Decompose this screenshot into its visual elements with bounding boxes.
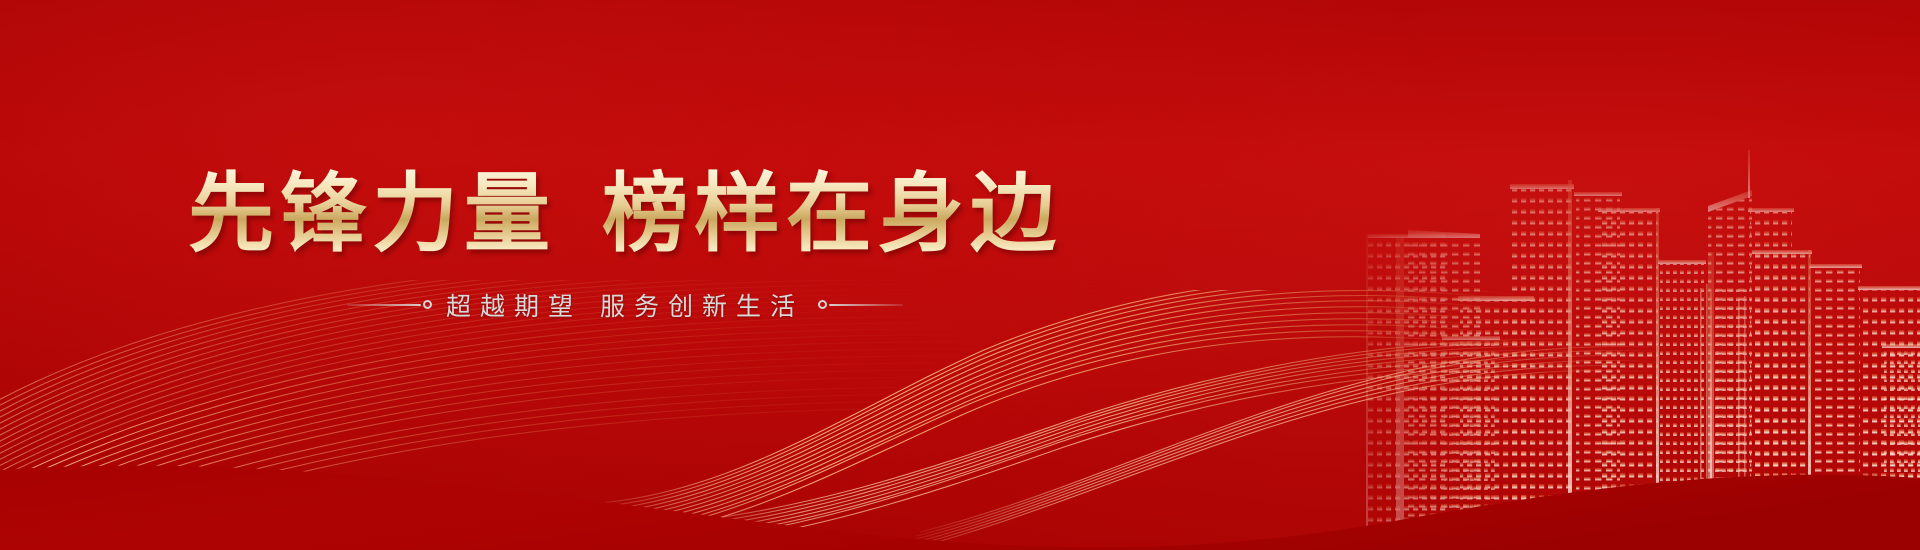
subtitle-part-2: 服务创新生活: [600, 292, 804, 321]
foreground-wave-shape: [0, 466, 1920, 550]
page-title: 先锋力量榜样在身边: [0, 168, 1250, 261]
banner-root: 先锋力量榜样在身边 超越期望服务创新生活: [0, 0, 1920, 550]
subtitle-decor-right: [816, 300, 903, 309]
subtitle-decor-left: [347, 300, 434, 309]
headline-part-2: 榜样在身边: [602, 164, 1062, 264]
subtitle-part-1: 超越期望: [446, 292, 582, 321]
headline-block: 先锋力量榜样在身边 超越期望服务创新生活: [0, 168, 1250, 323]
rule-left-icon: [347, 304, 421, 306]
page-subtitle: 超越期望服务创新生活: [446, 287, 804, 323]
headline-part-1: 先锋力量: [188, 164, 556, 264]
circle-outline-left-icon: [423, 300, 432, 309]
circle-outline-right-icon: [818, 300, 827, 309]
subtitle-row: 超越期望服务创新生活: [0, 287, 1250, 323]
rule-right-icon: [829, 304, 903, 306]
